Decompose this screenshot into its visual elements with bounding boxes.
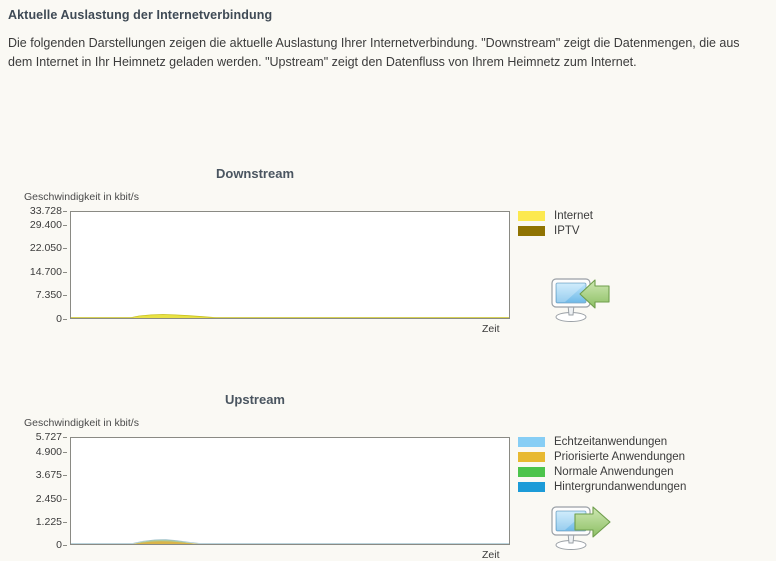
legend-label-internet: Internet [554,210,593,222]
upstream-y-ticks: 5.727 4.900 3.675 2.450 1.225 0 [0,437,62,545]
upstream-y-tick-0: 5.727 [36,431,62,443]
downstream-y-tick-2: 22.050 [30,242,62,254]
legend-label-normale-anwendungen: Normale Anwendungen [554,466,674,478]
legend-item-echtzeitanwendungen: Echtzeitanwendungen [518,435,686,449]
upstream-y-tick-4: 1.225 [36,516,62,528]
downstream-chart-title: Downstream [0,166,510,181]
upstream-trace-group [71,438,509,544]
downstream-trace-svg [71,212,509,318]
upstream-y-axis-label: Geschwindigkeit in kbit/s [24,417,139,429]
downstream-legend: Internet IPTV [518,209,593,239]
legend-swatch-internet [518,211,545,221]
legend-label-hintergrundanwendungen: Hintergrundanwendungen [554,481,686,493]
legend-item-internet: Internet [518,209,593,223]
upstream-y-tick-3: 2.450 [36,493,62,505]
monitor-download-icon [549,275,613,323]
downstream-plot-area [70,211,510,319]
legend-item-hintergrundanwendungen: Hintergrundanwendungen [518,480,686,494]
upstream-y-tick-5: 0 [56,539,62,551]
downstream-y-tick-0: 33.728 [30,205,62,217]
downstream-y-ticks: 33.728 29.400 22.050 14.700 7.350 0 [0,211,62,319]
downstream-x-axis-label: Zeit [482,323,500,335]
legend-item-priorisierte-anwendungen: Priorisierte Anwendungen [518,450,686,464]
downstream-y-tick-1: 29.400 [30,219,62,231]
page-description: Die folgenden Darstellungen zeigen die a… [8,34,766,73]
upstream-y-tick-1: 4.900 [36,446,62,458]
downstream-y-tick-5: 0 [56,313,62,325]
monitor-download-icon-svg [549,275,613,323]
legend-swatch-hintergrundanwendungen [518,482,545,492]
legend-label-iptv: IPTV [554,225,580,237]
legend-item-iptv: IPTV [518,224,593,238]
legend-label-echtzeitanwendungen: Echtzeitanwendungen [554,436,667,448]
downstream-y-axis-label: Geschwindigkeit in kbit/s [24,191,139,203]
upstream-chart-title: Upstream [0,392,510,407]
upstream-plot-area [70,437,510,545]
legend-swatch-priorisierte-anwendungen [518,452,545,462]
upstream-x-axis-label: Zeit [482,549,500,561]
upstream-legend: Echtzeitanwendungen Priorisierte Anwendu… [518,435,686,495]
downstream-y-tick-4: 7.350 [36,289,62,301]
legend-swatch-normale-anwendungen [518,467,545,477]
downstream-trace-internet [71,212,509,318]
legend-label-priorisierte-anwendungen: Priorisierte Anwendungen [554,451,685,463]
page-header: Aktuelle Auslastung der Internetverbindu… [0,0,776,73]
legend-swatch-iptv [518,226,545,236]
upstream-y-tick-2: 3.675 [36,469,62,481]
legend-swatch-echtzeitanwendungen [518,437,545,447]
monitor-upload-icon-svg [549,503,613,551]
downstream-y-tick-3: 14.700 [30,266,62,278]
page-title: Aktuelle Auslastung der Internetverbindu… [8,8,766,22]
legend-item-normale-anwendungen: Normale Anwendungen [518,465,686,479]
upstream-trace-svg [71,438,509,544]
monitor-upload-icon [549,503,613,551]
